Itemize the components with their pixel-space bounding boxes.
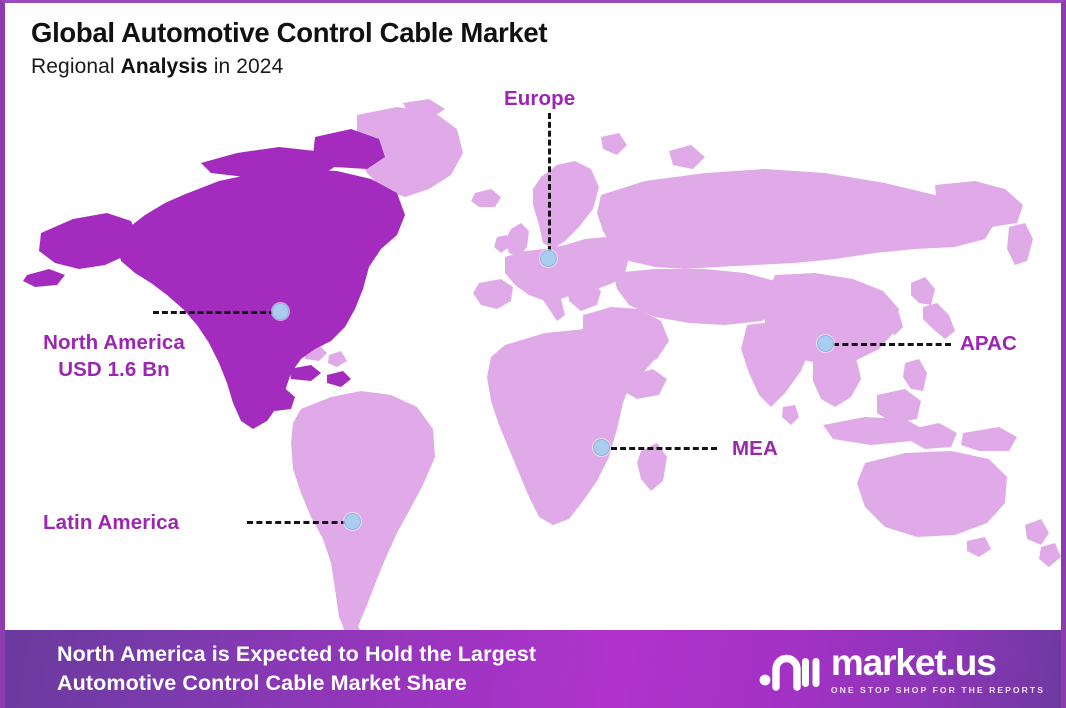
- marker-mea[interactable]: [593, 439, 610, 456]
- footer-headline-line2: Automotive Control Cable Market Share: [57, 669, 536, 698]
- region-label-latin-america[interactable]: Latin America: [43, 509, 179, 536]
- page-title: Global Automotive Control Cable Market: [31, 17, 547, 49]
- footer-headline-line1: North America is Expected to Hold the La…: [57, 640, 536, 669]
- header: Global Automotive Control Cable Market R…: [31, 17, 547, 79]
- subtitle-part-pre: Regional: [31, 55, 121, 78]
- region-label-latin-america-name: Latin America: [43, 511, 179, 534]
- marker-apac[interactable]: [817, 335, 834, 352]
- region-label-mea[interactable]: MEA: [732, 435, 778, 462]
- market-us-logo[interactable]: market.us ONE STOP SHOP FOR THE REPORTS: [759, 644, 1045, 695]
- leader-line-latin-america: [247, 521, 347, 524]
- leader-line-europe: [548, 113, 551, 261]
- region-label-mea-name: MEA: [732, 437, 778, 460]
- marker-europe[interactable]: [540, 250, 557, 267]
- subtitle-part-post: in 2024: [208, 55, 284, 78]
- market-us-logo-icon: [759, 647, 820, 691]
- marker-north-america[interactable]: [272, 303, 289, 320]
- footer-headline: North America is Expected to Hold the La…: [57, 640, 536, 698]
- subtitle-part-emphasis: Analysis: [121, 55, 208, 78]
- leader-line-north-america: [153, 311, 275, 314]
- footer-banner: North America is Expected to Hold the La…: [5, 630, 1066, 708]
- region-label-apac[interactable]: APAC: [960, 330, 1017, 357]
- region-label-europe-name: Europe: [504, 87, 575, 110]
- market-us-tagline: ONE STOP SHOP FOR THE REPORTS: [831, 686, 1045, 695]
- region-label-europe[interactable]: Europe: [504, 85, 575, 112]
- leader-line-mea: [611, 447, 717, 450]
- region-label-north-america-name: North America: [43, 331, 185, 354]
- market-us-wordmark: market.us: [831, 644, 1045, 681]
- region-label-north-america[interactable]: North America USD 1.6 Bn: [19, 329, 209, 383]
- map-annotations: North America USD 1.6 Bn Europe APAC MEA…: [5, 3, 1066, 633]
- infographic-card: Global Automotive Control Cable Market R…: [0, 0, 1066, 708]
- region-value-north-america: USD 1.6 Bn: [19, 356, 209, 383]
- leader-line-apac: [833, 343, 951, 346]
- marker-latin-america[interactable]: [344, 513, 361, 530]
- page-subtitle: Regional Analysis in 2024: [31, 55, 547, 79]
- region-label-apac-name: APAC: [960, 332, 1017, 355]
- market-us-logo-text: market.us ONE STOP SHOP FOR THE REPORTS: [831, 644, 1045, 695]
